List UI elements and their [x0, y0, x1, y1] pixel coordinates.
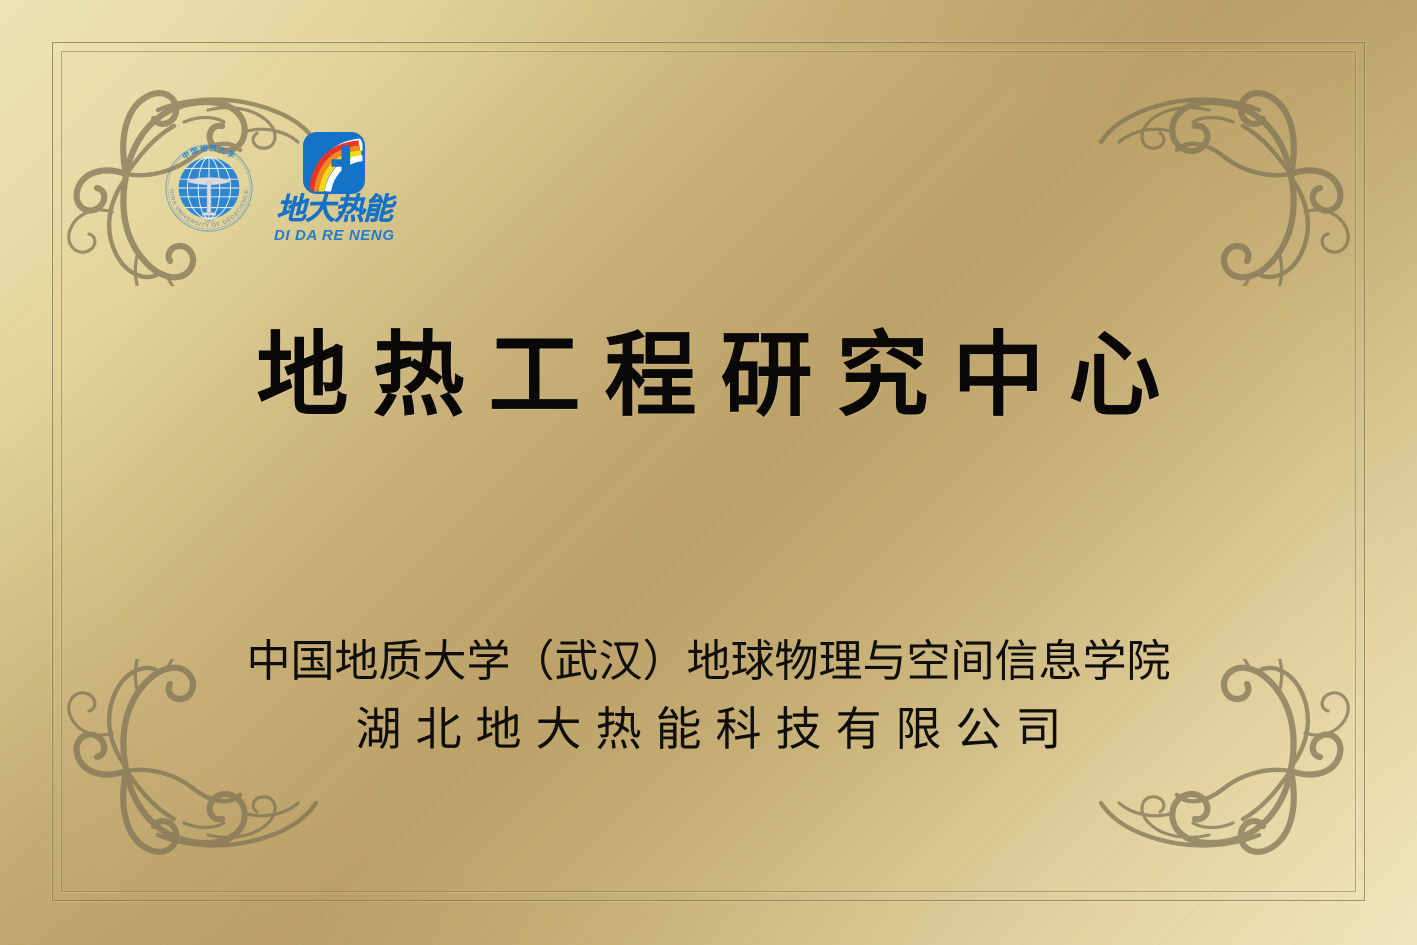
subtitle-block: 中国地质大学（武汉）地球物理与空间信息学院 湖北地大热能科技有限公司	[0, 636, 1417, 756]
svg-text:1952: 1952	[204, 218, 214, 223]
subtitle-company: 湖北地大热能科技有限公司	[0, 702, 1417, 756]
logo-row: 中国地质大学 CHINA UNIVERSITY OF GEOSCIENCES 1…	[160, 132, 395, 244]
didareneng-logo: 地大热能 DI DA RE NENG	[274, 132, 395, 244]
didareneng-mark-icon	[303, 132, 365, 194]
page-title: 地热工程研究中心	[0, 330, 1417, 422]
didareneng-chinese-text: 地大热能	[276, 195, 392, 225]
cug-seal-logo: 中国地质大学 CHINA UNIVERSITY OF GEOSCIENCES 1…	[160, 139, 258, 237]
ornament-corner-top-right	[1099, 6, 1409, 286]
plaque-board: 中国地质大学 CHINA UNIVERSITY OF GEOSCIENCES 1…	[0, 0, 1417, 945]
didareneng-pinyin-text: DI DA RE NENG	[274, 227, 395, 244]
subtitle-university: 中国地质大学（武汉）地球物理与空间信息学院	[0, 636, 1417, 688]
